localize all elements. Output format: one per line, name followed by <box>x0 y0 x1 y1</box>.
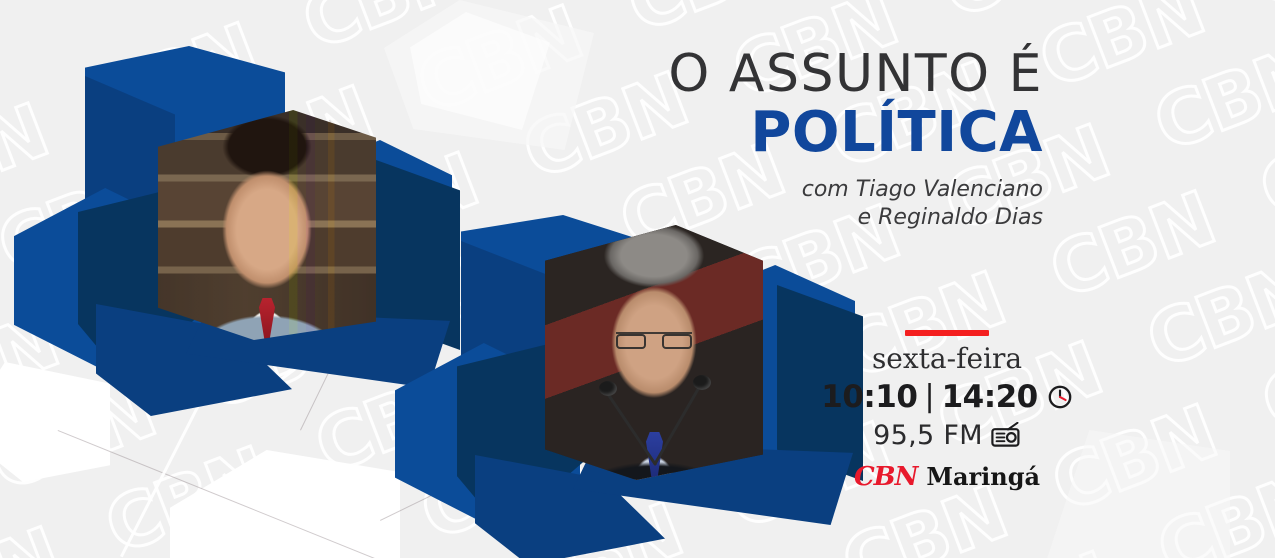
watermark-text: CBN <box>1253 315 1275 444</box>
watermark-text: CBN <box>1145 35 1275 164</box>
bg-hairline-1 <box>58 430 411 558</box>
hosts-line-1: com Tiago Valenciano <box>668 176 1043 204</box>
bg-polygon-3 <box>170 450 400 558</box>
schedule-day: sexta-feira <box>852 344 1042 375</box>
clock-icon <box>1047 384 1073 410</box>
watermark-text: CBN <box>1041 182 1223 311</box>
watermark-text: CBN <box>96 437 278 558</box>
station-brand: CBN <box>854 462 917 492</box>
watermark-text: CBN <box>1251 101 1275 230</box>
watermark-text: CBN <box>202 504 384 558</box>
watermark-text: CBN <box>618 0 800 44</box>
program-banner: CBNCBNCBNCBNCBNCBNCBNCBNCBNCBNCBNCBNCBNC… <box>0 0 1275 558</box>
photo-cluster-reginaldo <box>395 215 875 558</box>
schedule-frequency: 95,5 FM <box>852 420 1042 451</box>
watermark-text: CBN <box>1148 462 1275 558</box>
bg-polygon-6 <box>1040 430 1230 558</box>
program-title-block: O ASSUNTO É POLÍTICA com Tiago Valencian… <box>668 48 1043 232</box>
radio-icon <box>991 422 1021 448</box>
page-title: O ASSUNTO É <box>668 48 1043 101</box>
station-city: Maringá <box>926 462 1040 491</box>
hosts-line-2: e Reginaldo Dias <box>668 204 1043 232</box>
tie-red <box>259 298 275 340</box>
schedule-block: sexta-feira 10:10 | 14:20 95,5 FM <box>852 330 1042 492</box>
time-separator: | <box>924 379 934 414</box>
watermark-text: CBN <box>1245 532 1275 558</box>
schedule-times: 10:10 | 14:20 <box>852 379 1042 415</box>
watermark-text: CBN <box>939 542 1121 558</box>
tie-blue <box>646 432 663 480</box>
watermark-text: CBN <box>0 518 69 558</box>
watermark-text: CBN <box>933 0 1115 30</box>
photo-reginaldo-dias <box>545 225 763 480</box>
watermark-text: CBN <box>1030 0 1212 100</box>
schedule-time-2: 14:20 <box>942 379 1038 415</box>
accent-rule <box>905 330 989 336</box>
watermark-text: CBN <box>1138 252 1275 381</box>
frequency-label: 95,5 FM <box>873 420 983 451</box>
photo-tiago-valenciano <box>158 110 376 340</box>
watermark-text: CBN <box>1240 0 1275 20</box>
watermark-text: CBN <box>1043 395 1225 524</box>
page-subtitle-highlight: POLÍTICA <box>668 103 1043 163</box>
glasses <box>616 332 692 348</box>
station-logo: CBN Maringá <box>852 462 1042 492</box>
schedule-time-1: 10:10 <box>821 379 917 415</box>
